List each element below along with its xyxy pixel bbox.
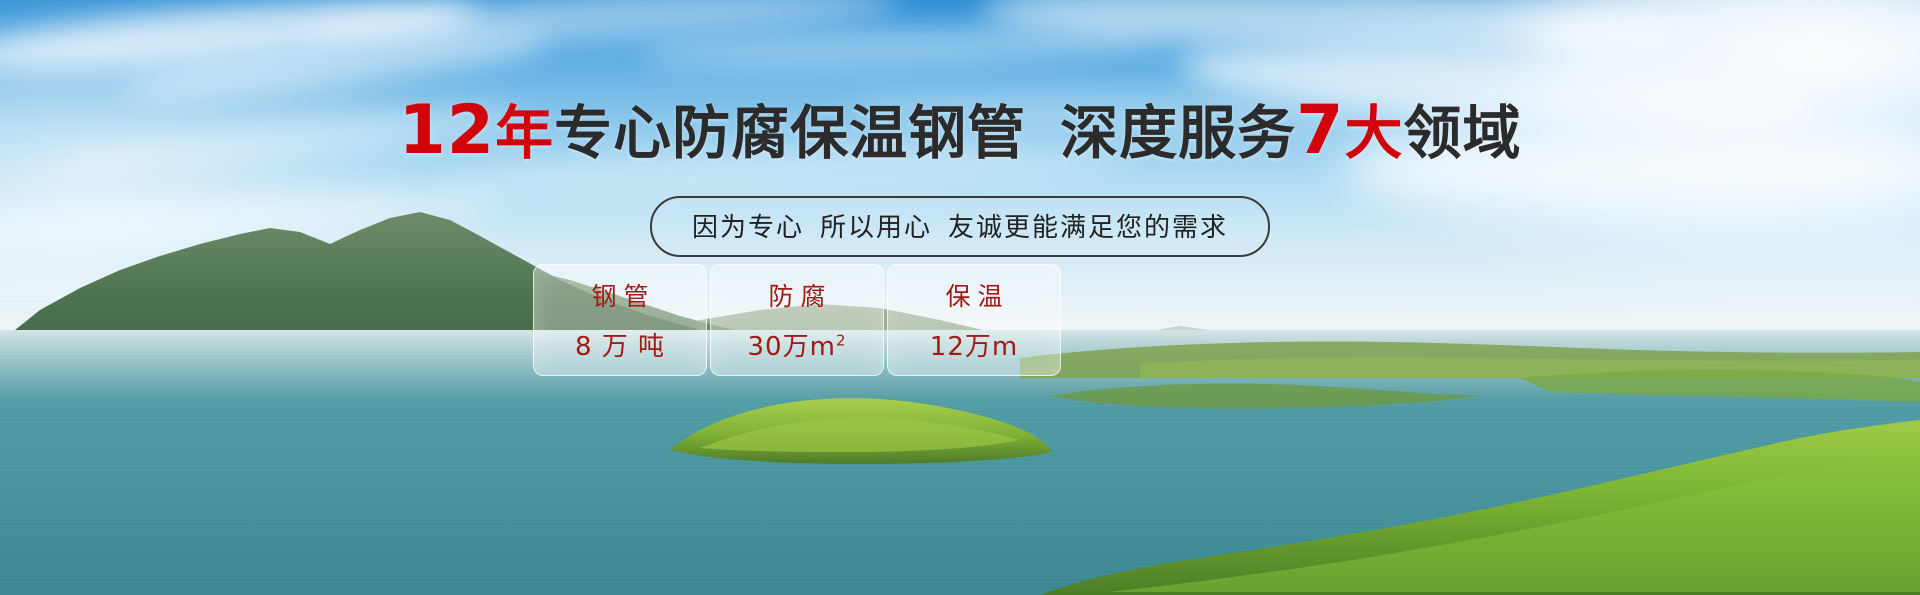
stat-card-anticorrosion: 防腐 30万m2 (710, 264, 884, 376)
headline-fields-text: 领域 (1404, 99, 1522, 167)
stat-card-value: 12万m (930, 326, 1018, 363)
stat-card-title: 防腐 (761, 277, 832, 313)
banner-headline: 12年专心防腐保温钢管深度服务7大领域 (0, 86, 1920, 170)
promo-banner: 12年专心防腐保温钢管深度服务7大领域 因为专心所以用心友诚更能满足您的需求 钢… (0, 0, 1920, 595)
stat-card-value: 8 万 吨 (575, 326, 665, 363)
headline-years-unit: 年 (495, 99, 554, 167)
subtitle-part-2: 所以用心 (820, 213, 932, 243)
stat-card-title: 保温 (938, 277, 1009, 313)
stat-card-value-exponent: 2 (836, 331, 847, 349)
headline-fields-number: 7 (1296, 91, 1344, 170)
stat-card-steel-pipe: 钢管 8 万 吨 (533, 264, 707, 376)
banner-content: 12年专心防腐保温钢管深度服务7大领域 因为专心所以用心友诚更能满足您的需求 钢… (0, 0, 1920, 595)
stat-card-value-text: 12万m (930, 332, 1018, 362)
subtitle-part-3: 友诚更能满足您的需求 (948, 213, 1228, 243)
banner-subtitle-wrapper: 因为专心所以用心友诚更能满足您的需求 (0, 196, 1920, 257)
stat-card-value: 30万m2 (748, 326, 847, 363)
stat-card-insulation: 保温 12万m (887, 264, 1061, 376)
banner-subtitle-pill: 因为专心所以用心友诚更能满足您的需求 (650, 196, 1270, 257)
stats-card-group: 钢管 8 万 吨 防腐 30万m2 保温 12万m (533, 264, 1061, 376)
subtitle-part-1: 因为专心 (692, 213, 804, 243)
stat-card-value-text: 8 万 吨 (575, 332, 665, 362)
headline-service-text: 深度服务 (1060, 99, 1296, 167)
stat-card-value-text: 30万m (748, 332, 836, 362)
headline-fields-unit: 大 (1344, 99, 1403, 167)
headline-main-text: 专心防腐保温钢管 (554, 99, 1026, 167)
stat-card-title: 钢管 (584, 277, 655, 313)
headline-years-number: 12 (398, 91, 495, 170)
